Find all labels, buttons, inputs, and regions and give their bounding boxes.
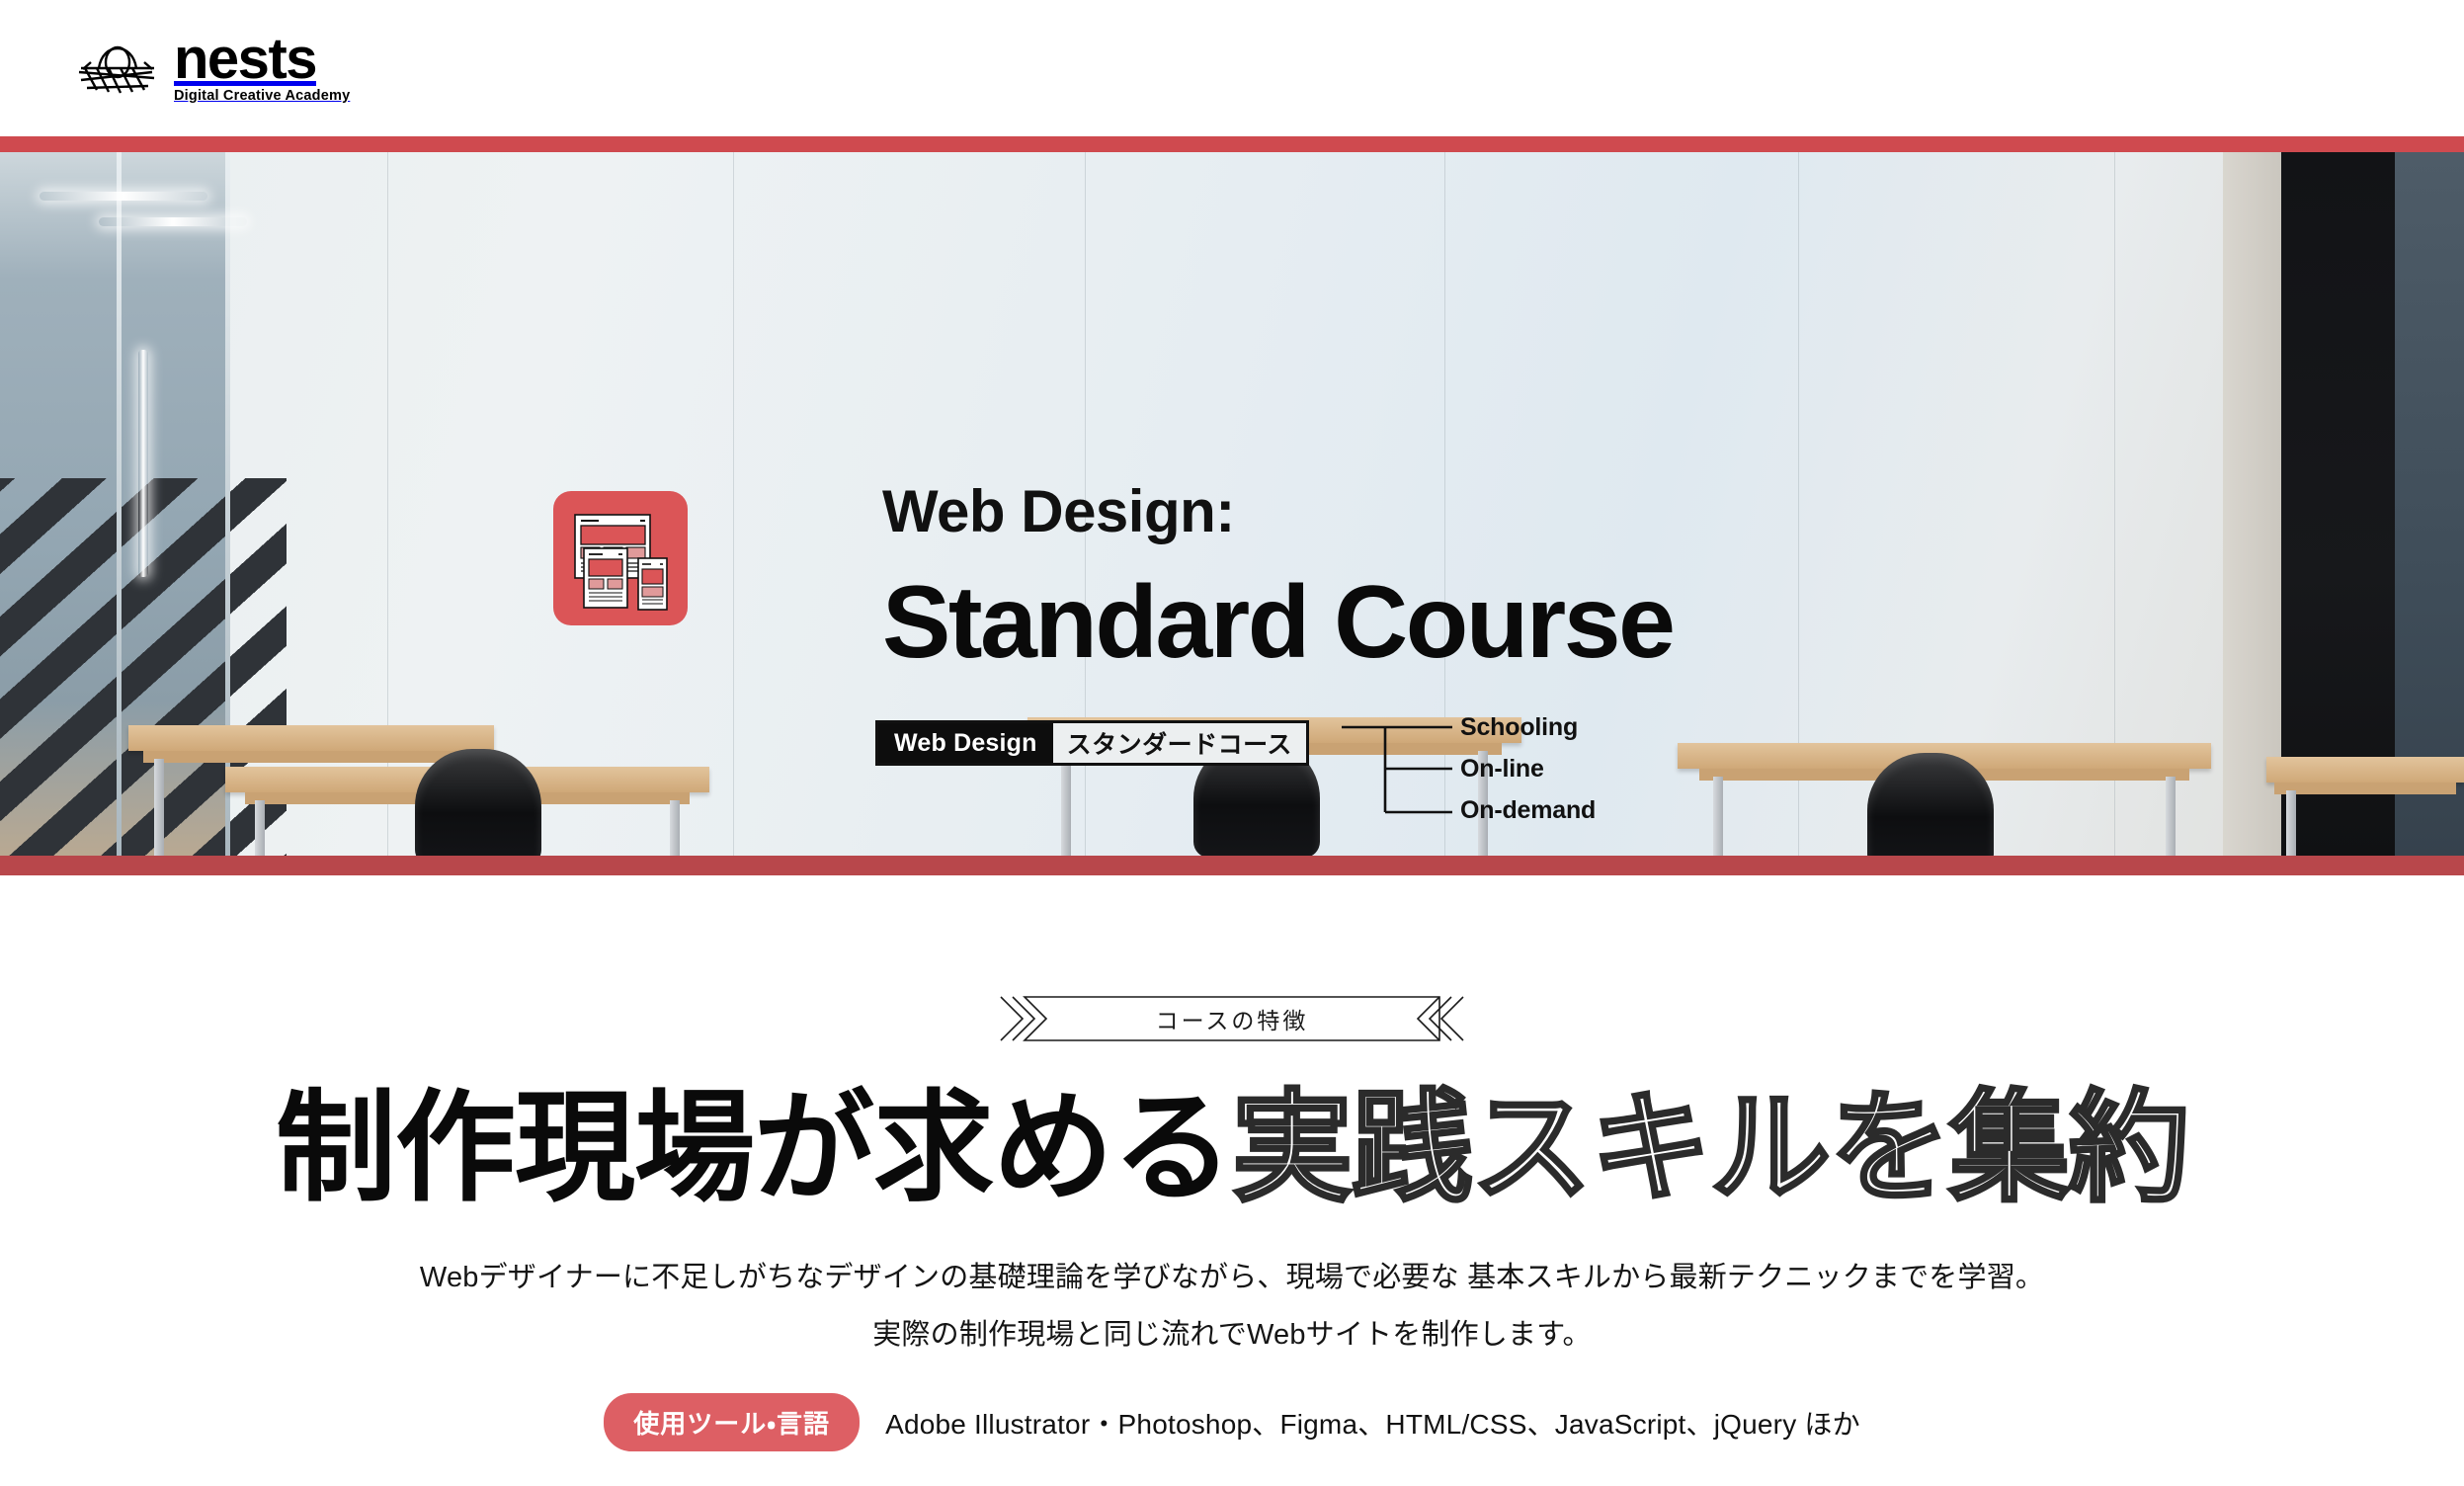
badge-category: Web Design bbox=[878, 723, 1053, 763]
nest-logo-icon bbox=[75, 39, 160, 98]
delivery-mode-online: On-line bbox=[1460, 755, 1544, 784]
hero-kicker: Web Design: bbox=[882, 482, 1235, 541]
lead-line-2: 実際の制作現場と同じ流れでWebサイトを制作します。 bbox=[872, 1319, 1592, 1351]
badge-course-name: スタンダードコース bbox=[1053, 723, 1306, 763]
site-header: nests Digital Creative Academy bbox=[0, 0, 2464, 136]
ribbon-label: コースの特徴 bbox=[985, 993, 1479, 1044]
feature-headline: 制作現場が求める実践スキルを集約 bbox=[0, 1084, 2464, 1214]
tools-row: 使用ツール・言語 Adobe Illustrator・Photoshop、Fig… bbox=[0, 1393, 2464, 1451]
delivery-modes: Schooling On-line On-demand bbox=[1342, 717, 1638, 828]
lead-line-1: Webデザイナーに不足しがちなデザインの基礎理論を学びながら、現場で必要な 基本… bbox=[420, 1262, 2044, 1293]
headline-solid: 制作現場が求める bbox=[276, 1081, 1232, 1215]
responsive-wireframe-icon bbox=[551, 489, 690, 632]
tools-value: Adobe Illustrator・Photoshop、Figma、HTML/C… bbox=[885, 1403, 1860, 1443]
delivery-mode-ondemand: On-demand bbox=[1460, 796, 1596, 825]
feature-lead: Webデザイナーに不足しがちなデザインの基礎理論を学びながら、現場で必要な 基本… bbox=[0, 1249, 2464, 1363]
headline-outline: 実践スキルを集約 bbox=[1232, 1081, 2188, 1215]
delivery-mode-schooling: Schooling bbox=[1460, 713, 1578, 742]
hero-title: Standard Course bbox=[882, 571, 1673, 674]
section-ribbon: コースの特徴 bbox=[985, 993, 1479, 1044]
logo-tagline: Digital Creative Academy bbox=[174, 88, 350, 104]
logo-wordmark: nests bbox=[174, 33, 316, 85]
hero-banner: Web Design: Standard Course Web Design ス… bbox=[0, 136, 2464, 875]
course-badge: Web Design スタンダードコース bbox=[875, 720, 1309, 766]
tools-label-pill: 使用ツール・言語 bbox=[604, 1393, 860, 1451]
site-logo[interactable]: nests Digital Creative Academy bbox=[75, 33, 350, 103]
